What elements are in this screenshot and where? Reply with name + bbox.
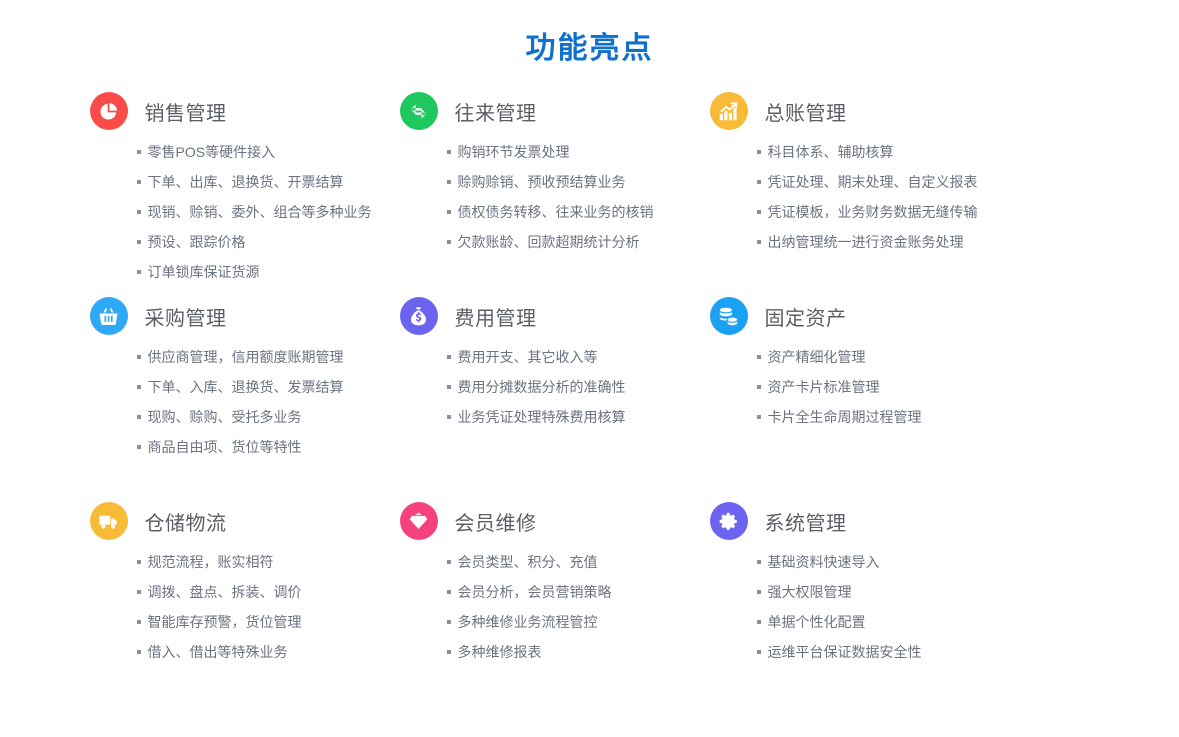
feature-bullet-item: 智能库存预警，货位管理 <box>137 607 400 637</box>
feature-bullet-item: 多种维修业务流程管控 <box>447 607 710 637</box>
feature-bullet-item: 调拨、盘点、拆装、调价 <box>137 577 400 607</box>
exchange-arrows-icon <box>400 92 438 130</box>
feature-bullet-item: 现销、赊销、委外、组合等多种业务 <box>137 197 400 227</box>
feature-card-title: 仓储物流 <box>145 507 227 536</box>
feature-bullet-item: 资产卡片标准管理 <box>757 372 1040 402</box>
feature-bullet-item: 科目体系、辅助核算 <box>757 137 1040 167</box>
feature-bullet-item: 运维平台保证数据安全性 <box>757 637 1040 667</box>
feature-bullet-item: 订单锁库保证货源 <box>137 257 400 287</box>
feature-card[interactable]: 销售管理零售POS等硬件接入下单、出库、退换货、开票结算现销、赊销、委外、组合等… <box>90 89 400 294</box>
feature-card-title: 往来管理 <box>455 97 537 126</box>
feature-card[interactable]: 固定资产资产精细化管理资产卡片标准管理卡片全生命周期过程管理 <box>710 294 1040 499</box>
feature-card-header: 会员维修 <box>400 499 710 543</box>
feature-bullet-item: 强大权限管理 <box>757 577 1040 607</box>
feature-bullet-item: 资产精细化管理 <box>757 342 1040 372</box>
feature-bullet-item: 基础资料快速导入 <box>757 547 1040 577</box>
feature-card-header: 往来管理 <box>400 89 710 133</box>
feature-bullet-item: 会员分析，会员营销策略 <box>447 577 710 607</box>
feature-card-header: 销售管理 <box>90 89 400 133</box>
feature-card[interactable]: 费用管理费用开支、其它收入等费用分摊数据分析的准确性业务凭证处理特殊费用核算 <box>400 294 710 499</box>
feature-card-title: 总账管理 <box>765 97 847 126</box>
feature-card-title: 费用管理 <box>455 302 537 331</box>
feature-card-title: 系统管理 <box>765 507 847 536</box>
feature-bullet-list: 零售POS等硬件接入下单、出库、退换货、开票结算现销、赊销、委外、组合等多种业务… <box>90 137 400 287</box>
feature-card-header: 费用管理 <box>400 294 710 338</box>
feature-bullet-list: 科目体系、辅助核算凭证处理、期末处理、自定义报表凭证模板，业务财务数据无缝传输出… <box>710 137 1040 257</box>
feature-card[interactable]: 采购管理供应商管理，信用额度账期管理下单、入库、退换货、发票结算现购、赊购、受托… <box>90 294 400 499</box>
feature-card-title: 固定资产 <box>765 302 847 331</box>
feature-bullet-list: 供应商管理，信用额度账期管理下单、入库、退换货、发票结算现购、赊购、受托多业务商… <box>90 342 400 462</box>
pie-chart-icon <box>90 92 128 130</box>
feature-card[interactable]: 会员维修会员类型、积分、充值会员分析，会员营销策略多种维修业务流程管控多种维修报… <box>400 499 710 667</box>
feature-bullet-item: 零售POS等硬件接入 <box>137 137 400 167</box>
feature-card[interactable]: 往来管理购销环节发票处理赊购赊销、预收预结算业务债权债务转移、往来业务的核销欠款… <box>400 89 710 294</box>
feature-bullet-item: 下单、入库、退换货、发票结算 <box>137 372 400 402</box>
feature-card-header: 仓储物流 <box>90 499 400 543</box>
feature-card-title: 会员维修 <box>455 507 537 536</box>
feature-bullet-item: 下单、出库、退换货、开票结算 <box>137 167 400 197</box>
feature-bullet-item: 赊购赊销、预收预结算业务 <box>447 167 710 197</box>
feature-bullet-list: 费用开支、其它收入等费用分摊数据分析的准确性业务凭证处理特殊费用核算 <box>400 342 710 432</box>
money-bag-icon <box>400 297 438 335</box>
shopping-basket-icon <box>90 297 128 335</box>
feature-bullet-list: 购销环节发票处理赊购赊销、预收预结算业务债权债务转移、往来业务的核销欠款账龄、回… <box>400 137 710 257</box>
feature-bullet-list: 资产精细化管理资产卡片标准管理卡片全生命周期过程管理 <box>710 342 1040 432</box>
feature-bullet-item: 现购、赊购、受托多业务 <box>137 402 400 432</box>
feature-card-title: 采购管理 <box>145 302 227 331</box>
chart-up-icon <box>710 92 748 130</box>
feature-bullet-item: 供应商管理，信用额度账期管理 <box>137 342 400 372</box>
feature-card-title: 销售管理 <box>145 97 227 126</box>
feature-bullet-item: 多种维修报表 <box>447 637 710 667</box>
feature-bullet-item: 费用开支、其它收入等 <box>447 342 710 372</box>
feature-bullet-item: 卡片全生命周期过程管理 <box>757 402 1040 432</box>
coins-stack-icon <box>710 297 748 335</box>
feature-bullet-item: 单据个性化配置 <box>757 607 1040 637</box>
feature-bullet-item: 凭证处理、期末处理、自定义报表 <box>757 167 1040 197</box>
feature-bullet-item: 出纳管理统一进行资金账务处理 <box>757 227 1040 257</box>
feature-bullet-list: 规范流程，账实相符调拨、盘点、拆装、调价智能库存预警，货位管理借入、借出等特殊业… <box>90 547 400 667</box>
feature-bullet-item: 商品自由项、货位等特性 <box>137 432 400 462</box>
feature-bullet-item: 业务凭证处理特殊费用核算 <box>447 402 710 432</box>
feature-card-header: 总账管理 <box>710 89 1040 133</box>
feature-bullet-item: 会员类型、积分、充值 <box>447 547 710 577</box>
diamond-icon <box>400 502 438 540</box>
feature-card-header: 系统管理 <box>710 499 1040 543</box>
delivery-truck-icon <box>90 502 128 540</box>
feature-bullet-item: 凭证模板，业务财务数据无缝传输 <box>757 197 1040 227</box>
gear-icon <box>710 502 748 540</box>
feature-bullet-item: 费用分摊数据分析的准确性 <box>447 372 710 402</box>
feature-bullet-item: 欠款账龄、回款超期统计分析 <box>447 227 710 257</box>
feature-bullet-item: 购销环节发票处理 <box>447 137 710 167</box>
page-title: 功能亮点 <box>0 0 1179 72</box>
feature-grid: 销售管理零售POS等硬件接入下单、出库、退换货、开票结算现销、赊销、委外、组合等… <box>90 72 1090 667</box>
feature-card[interactable]: 系统管理基础资料快速导入强大权限管理单据个性化配置运维平台保证数据安全性 <box>710 499 1040 667</box>
feature-bullet-list: 会员类型、积分、充值会员分析，会员营销策略多种维修业务流程管控多种维修报表 <box>400 547 710 667</box>
feature-card-header: 固定资产 <box>710 294 1040 338</box>
feature-bullet-list: 基础资料快速导入强大权限管理单据个性化配置运维平台保证数据安全性 <box>710 547 1040 667</box>
feature-card-header: 采购管理 <box>90 294 400 338</box>
feature-card[interactable]: 总账管理科目体系、辅助核算凭证处理、期末处理、自定义报表凭证模板，业务财务数据无… <box>710 89 1040 294</box>
feature-bullet-item: 债权债务转移、往来业务的核销 <box>447 197 710 227</box>
feature-bullet-item: 借入、借出等特殊业务 <box>137 637 400 667</box>
feature-bullet-item: 预设、跟踪价格 <box>137 227 400 257</box>
feature-bullet-item: 规范流程，账实相符 <box>137 547 400 577</box>
feature-card[interactable]: 仓储物流规范流程，账实相符调拨、盘点、拆装、调价智能库存预警，货位管理借入、借出… <box>90 499 400 667</box>
